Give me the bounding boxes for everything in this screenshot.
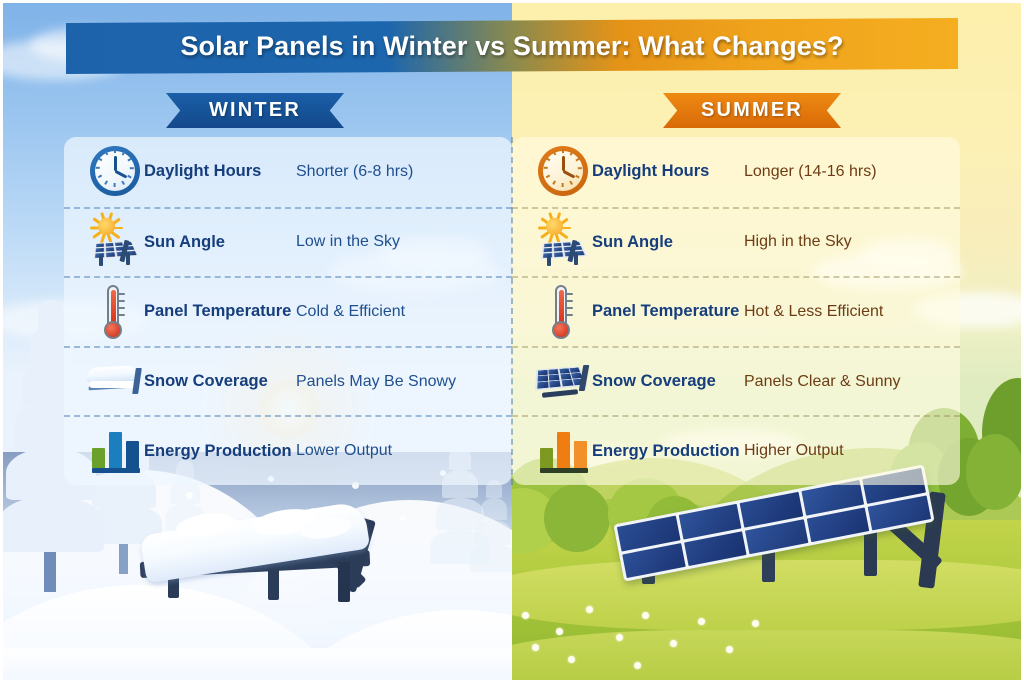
row-value: Higher Output <box>744 442 844 460</box>
clock-icon <box>90 146 140 196</box>
row-icon <box>534 354 592 410</box>
section-heading-winter: WINTER <box>166 93 344 128</box>
row-icon <box>86 423 144 479</box>
row-value: Lower Output <box>296 442 392 460</box>
sun-over-panel-icon <box>534 214 592 270</box>
row-label: Panel Temperature <box>144 302 296 321</box>
sun-over-panel-icon <box>86 214 144 270</box>
comparison-row[interactable]: Daylight HoursShorter (6-8 hrs) <box>64 137 512 207</box>
row-label: Snow Coverage <box>144 372 296 391</box>
section-heading-summer: SUMMER <box>663 93 841 128</box>
comparison-row[interactable]: Snow CoveragePanels May Be Snowy <box>64 346 512 416</box>
row-icon <box>534 423 592 479</box>
row-value: Low in the Sky <box>296 233 400 251</box>
page-title: Solar Panels in Winter vs Summer: What C… <box>66 18 958 74</box>
winter-rows: Daylight HoursShorter (6-8 hrs)Sun Angle… <box>64 137 512 485</box>
thermometer-icon <box>102 285 124 339</box>
row-label: Energy Production <box>144 442 296 461</box>
snow-covered-solar-panel <box>140 512 430 618</box>
row-label: Energy Production <box>592 442 744 461</box>
row-icon <box>534 144 592 200</box>
row-icon <box>534 214 592 270</box>
winter-heading-text: WINTER <box>209 99 301 122</box>
comparison-row[interactable]: Snow CoveragePanels Clear & Sunny <box>512 346 960 416</box>
row-label: Sun Angle <box>592 233 744 252</box>
row-label: Daylight Hours <box>592 162 744 181</box>
page-title-text: Solar Panels in Winter vs Summer: What C… <box>180 31 843 62</box>
snowy-panel-icon <box>88 360 142 402</box>
row-label: Daylight Hours <box>144 162 296 181</box>
summer-heading-text: SUMMER <box>701 99 803 122</box>
row-icon <box>86 354 144 410</box>
row-icon <box>86 214 144 270</box>
row-value: Panels May Be Snowy <box>296 373 456 391</box>
row-value: Cold & Efficient <box>296 303 405 321</box>
row-value: High in the Sky <box>744 233 852 251</box>
comparison-row[interactable]: Sun AngleHigh in the Sky <box>512 207 960 277</box>
summer-rows: Daylight HoursLonger (14-16 hrs)Sun Angl… <box>512 137 960 485</box>
clear-panel-icon <box>536 360 590 404</box>
comparison-row[interactable]: Panel TemperatureHot & Less Efficient <box>512 276 960 346</box>
comparison-row[interactable]: Panel TemperatureCold & Efficient <box>64 276 512 346</box>
row-value: Hot & Less Efficient <box>744 303 883 321</box>
comparison-row[interactable]: Sun AngleLow in the Sky <box>64 207 512 277</box>
bar-chart-icon <box>92 429 140 473</box>
comparison-row[interactable]: Energy ProductionLower Output <box>64 415 512 485</box>
thermometer-icon <box>550 285 572 339</box>
bar-chart-icon <box>540 429 588 473</box>
clock-icon <box>538 146 588 196</box>
row-icon <box>86 144 144 200</box>
column-divider <box>511 137 513 485</box>
comparison-row[interactable]: Energy ProductionHigher Output <box>512 415 960 485</box>
row-value: Panels Clear & Sunny <box>744 373 901 391</box>
comparison-row[interactable]: Daylight HoursLonger (14-16 hrs) <box>512 137 960 207</box>
infographic-canvas: Daylight HoursShorter (6-8 hrs)Sun Angle… <box>0 0 1024 683</box>
row-value: Shorter (6-8 hrs) <box>296 163 413 181</box>
row-value: Longer (14-16 hrs) <box>744 163 877 181</box>
row-label: Sun Angle <box>144 233 296 252</box>
row-label: Snow Coverage <box>592 372 744 391</box>
row-icon <box>534 284 592 340</box>
row-icon <box>86 284 144 340</box>
summer-solar-panel-array <box>612 498 972 608</box>
row-label: Panel Temperature <box>592 302 744 321</box>
